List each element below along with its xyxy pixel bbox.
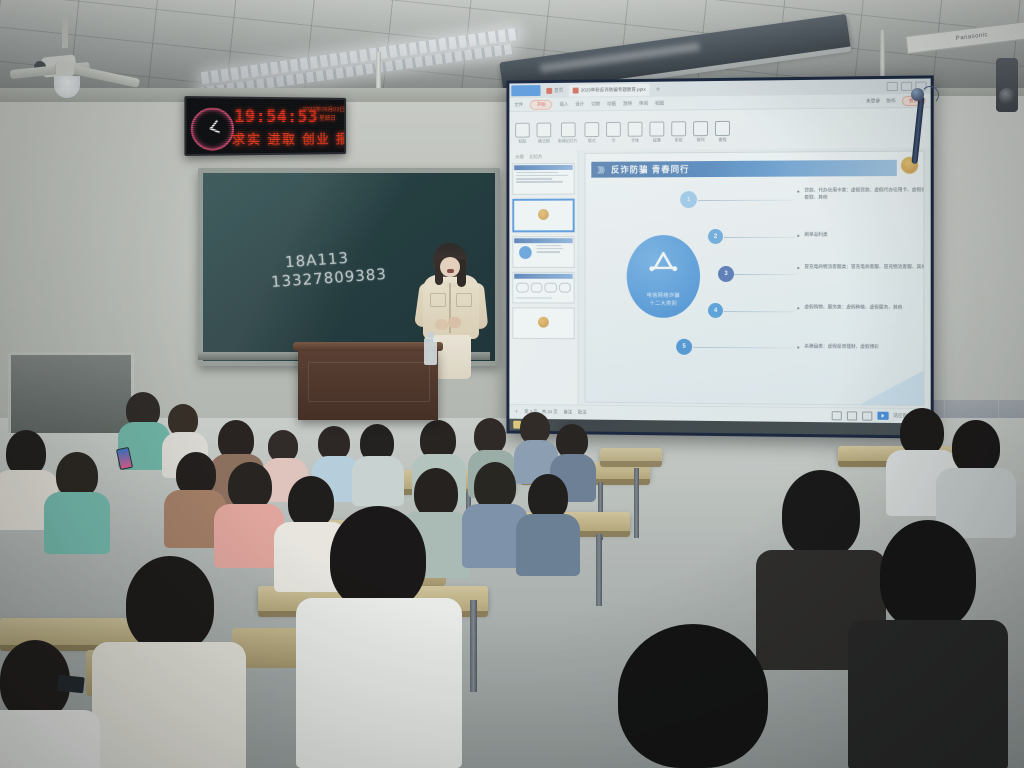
fraud-item-5: 杀猪盘类：虚假投资理财、虚假博彩 bbox=[804, 343, 924, 351]
slides-tab[interactable]: 幻灯片 bbox=[530, 154, 543, 160]
thumbnail-1[interactable]: 1 bbox=[512, 163, 574, 195]
ribbon-group-8[interactable]: 排列 bbox=[693, 121, 708, 143]
ribbon-group-6[interactable]: 段落 bbox=[649, 121, 664, 143]
thumbnail-3-number: 3 bbox=[512, 239, 513, 244]
thumbnail-1-number: 1 bbox=[512, 166, 513, 171]
slide-thumbnail-pane[interactable]: 大纲 幻灯片 1 2 3 bbox=[509, 150, 578, 406]
node-number-2: 2 bbox=[708, 229, 723, 244]
ribbon-group-6-label: 段落 bbox=[653, 137, 661, 143]
fraud-item-1: 贷款、代办信用卡类：虚假贷款、虚假代办信用卡、虚假提额套取、其他 bbox=[804, 186, 924, 202]
fraud-item-2: 刷单返利类 bbox=[804, 231, 924, 239]
led-display-board: 19:54:53 2023年09月03日 星期日 求实 进取 创业 报国 bbox=[184, 96, 346, 156]
app-store-icon bbox=[646, 249, 680, 273]
font-icon[interactable] bbox=[628, 122, 643, 137]
crest-icon-2 bbox=[538, 316, 549, 327]
ribbon-tab-4[interactable]: 切换 bbox=[591, 101, 600, 107]
center-circle-line2: 十二大类别 bbox=[649, 301, 677, 309]
wps-tab-1-label: 2023年秋反诈防骗专题教育.pptx bbox=[581, 86, 646, 93]
analog-clock-icon bbox=[191, 107, 234, 150]
notes-button[interactable]: 备注 bbox=[563, 409, 572, 415]
ribbon-group-5[interactable]: 字体 bbox=[628, 122, 643, 144]
ribbon-group-7-label: 形状 bbox=[675, 137, 683, 143]
ribbon-tab-7[interactable]: 审阅 bbox=[639, 100, 648, 106]
thumbnail-4[interactable]: 4 bbox=[512, 272, 574, 304]
microphone-head bbox=[911, 88, 924, 101]
ribbon-group-4-label: 节 bbox=[611, 138, 615, 144]
water-bottle bbox=[424, 337, 437, 365]
ribbon-group-8-label: 排列 bbox=[697, 137, 705, 143]
minimize-icon[interactable] bbox=[887, 82, 898, 91]
ribbon-group-3-label: 版式 bbox=[588, 138, 596, 144]
thumbnail-4-number: 4 bbox=[512, 275, 513, 280]
wps-tab-1[interactable]: 2023年秋反诈防骗专题教育.pptx bbox=[569, 83, 650, 96]
smartphone-held bbox=[57, 675, 85, 694]
maximize-icon[interactable] bbox=[901, 82, 912, 91]
thumbnail-5-number: 5 bbox=[512, 310, 513, 315]
ribbon-group-2[interactable]: 新建幻灯片 bbox=[558, 122, 578, 144]
layout-icon[interactable] bbox=[584, 122, 599, 137]
wall-speaker bbox=[996, 58, 1018, 112]
wps-tab-0[interactable]: 首页 bbox=[542, 84, 567, 96]
slide-title-bar: 》》》 反诈防骗 青春同行 bbox=[591, 160, 897, 178]
diagram-circle-icon bbox=[519, 246, 532, 259]
desk-leg-4 bbox=[596, 534, 602, 606]
thumbnail-2[interactable]: 2 bbox=[512, 199, 574, 233]
presenter-face bbox=[440, 257, 460, 277]
home-icon bbox=[546, 87, 552, 93]
ribbon-tab-5[interactable]: 动画 bbox=[607, 101, 616, 107]
desk-leg-7 bbox=[634, 468, 639, 538]
format-painter-icon[interactable] bbox=[537, 123, 552, 138]
shape-icon[interactable] bbox=[671, 121, 686, 136]
thumbnail-5[interactable]: 5 bbox=[512, 307, 574, 339]
ribbon-group-2-label: 新建幻灯片 bbox=[558, 138, 578, 144]
node-number-1: 1 bbox=[680, 191, 697, 208]
ppt-file-icon bbox=[573, 87, 579, 93]
ribbon-tab-8[interactable]: 视图 bbox=[655, 100, 664, 106]
paragraph-icon[interactable] bbox=[649, 121, 664, 136]
projector-screen: 首页 2023年秋反诈防骗专题教育.pptx + 文件 开始 插入 设计 切 bbox=[506, 75, 933, 438]
new-slide-icon[interactable] bbox=[560, 122, 575, 137]
side-doorway bbox=[8, 352, 134, 433]
chevron-marks: 》》》 bbox=[597, 164, 607, 175]
lectern bbox=[298, 348, 438, 420]
led-date: 2023年09月03日 bbox=[303, 104, 345, 113]
led-weekday: 星期日 bbox=[319, 113, 336, 122]
share-icon[interactable]: 协作 bbox=[886, 98, 895, 104]
fraud-item-3: 冒充电商物流客服类：冒充电商客服、冒充物流客服、其他 bbox=[804, 263, 924, 271]
ribbon-group-1-label: 格式刷 bbox=[538, 138, 550, 144]
ribbon-tab-0[interactable]: 文件 bbox=[514, 102, 523, 108]
ribbon-group-0-label: 粘贴 bbox=[519, 139, 527, 145]
ribbon-group-9[interactable]: 查找 bbox=[715, 121, 730, 143]
ribbon-group-1[interactable]: 格式刷 bbox=[537, 123, 552, 145]
new-tab-button[interactable]: + bbox=[652, 85, 665, 94]
wps-logo bbox=[511, 85, 540, 96]
ribbon-group-9-label: 查找 bbox=[718, 137, 726, 143]
normal-view-icon[interactable] bbox=[831, 411, 841, 420]
node-number-5: 5 bbox=[676, 339, 692, 355]
ribbon-group-5-label: 字体 bbox=[631, 138, 639, 144]
ribbon-tab-6[interactable]: 放映 bbox=[623, 100, 632, 106]
add-slide-icon[interactable]: ＋ bbox=[514, 409, 518, 415]
crest-icon bbox=[538, 209, 549, 220]
slide-canvas[interactable]: 》》》 反诈防骗 青春同行 bbox=[579, 147, 931, 409]
find-icon[interactable] bbox=[715, 121, 730, 136]
slide-title-text: 反诈防骗 青春同行 bbox=[611, 163, 690, 175]
ribbon-group-3[interactable]: 版式 bbox=[584, 122, 599, 144]
node-number-3: 3 bbox=[718, 266, 734, 282]
ribbon-group-4[interactable]: 节 bbox=[606, 122, 621, 144]
account-icon[interactable]: 未登录 bbox=[866, 98, 880, 104]
thumbnail-2-number: 2 bbox=[512, 203, 514, 208]
paste-icon[interactable] bbox=[515, 123, 530, 138]
node-number-4: 4 bbox=[708, 303, 723, 318]
wps-window: 首页 2023年秋反诈防骗专题教育.pptx + 文件 开始 插入 设计 切 bbox=[509, 78, 930, 435]
section-icon[interactable] bbox=[606, 122, 621, 137]
ribbon-tab-2[interactable]: 插入 bbox=[559, 101, 568, 107]
sorter-view-icon[interactable] bbox=[847, 411, 857, 420]
ribbon-tab-3[interactable]: 设计 bbox=[575, 101, 584, 107]
ribbon-group-0[interactable]: 粘贴 bbox=[515, 123, 530, 145]
comment-button[interactable]: 批注 bbox=[578, 410, 587, 416]
wps-tab-0-label: 首页 bbox=[554, 87, 563, 93]
desk-right-small bbox=[600, 448, 662, 462]
wps-main-area: 大纲 幻灯片 1 2 3 bbox=[509, 147, 930, 409]
reading-view-icon[interactable] bbox=[862, 411, 872, 420]
thumbnail-3[interactable]: 3 bbox=[512, 236, 574, 268]
center-category-circle: 电信网络诈骗 十二大类别 bbox=[627, 235, 700, 318]
ribbon-group-7[interactable]: 形状 bbox=[671, 121, 686, 143]
ribbon-tab-1[interactable]: 开始 bbox=[530, 99, 553, 109]
led-motto: 求实 进取 创业 报国 bbox=[232, 129, 346, 148]
classroom-scene: 19:54:53 2023年09月03日 星期日 求实 进取 创业 报国 18A… bbox=[0, 0, 1024, 768]
current-slide: 》》》 反诈防骗 青春同行 bbox=[584, 151, 924, 407]
slide-corner-decoration bbox=[860, 370, 923, 405]
desk-leg-6 bbox=[470, 600, 477, 692]
fraud-item-4: 虚假购物、服务类：虚假种植、虚假服务、其他 bbox=[804, 303, 924, 311]
play-slideshow-button[interactable] bbox=[877, 412, 888, 420]
arrange-icon[interactable] bbox=[693, 121, 708, 136]
outline-tab[interactable]: 大纲 bbox=[515, 154, 524, 160]
